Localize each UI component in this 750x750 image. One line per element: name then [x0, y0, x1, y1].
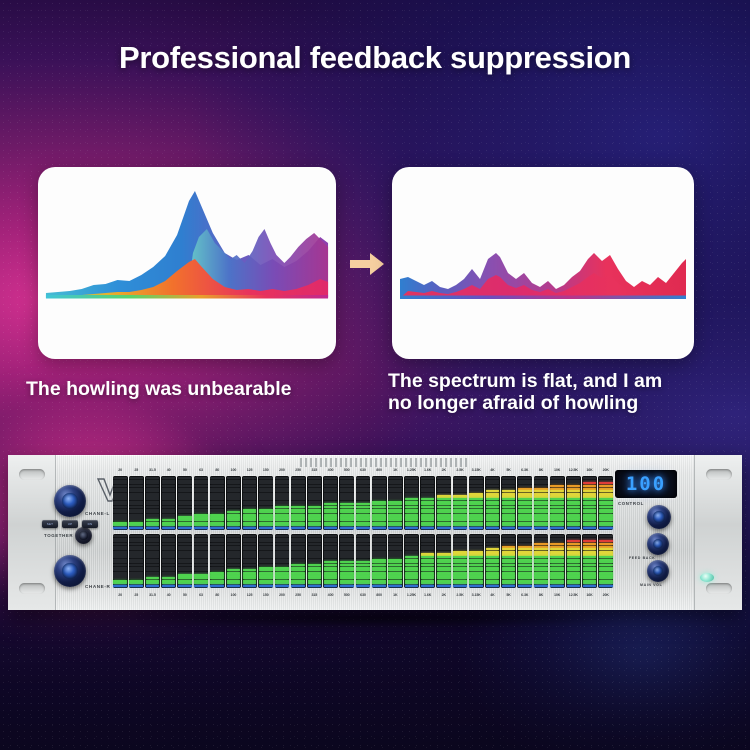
meter-segment: [437, 556, 451, 558]
meter-segment: [534, 498, 548, 500]
meter-segment: [146, 490, 160, 492]
meter-segment: [469, 511, 483, 513]
meter-band[interactable]: [550, 476, 565, 530]
meter-segment: [356, 569, 370, 571]
meter-segment: [469, 548, 483, 550]
meter-segment: [550, 564, 564, 566]
meter-segment: [437, 585, 451, 587]
meter-segment: [162, 506, 176, 508]
frequency-label: 400: [322, 593, 338, 597]
meter-segment: [210, 577, 224, 579]
meter-segment: [567, 506, 581, 508]
meter-band[interactable]: [226, 534, 241, 588]
meter-segment: [291, 490, 305, 492]
meter-segment: [129, 569, 143, 571]
meter-segment: [178, 556, 192, 558]
meter-band[interactable]: [307, 476, 322, 530]
knob-control[interactable]: [647, 505, 671, 529]
meter-segment: [259, 543, 273, 545]
meter-segment: [243, 548, 257, 550]
meter-segment: [113, 490, 127, 492]
meter-band[interactable]: [129, 534, 144, 588]
meter-segment: [194, 535, 208, 537]
meter-segment: [534, 519, 548, 521]
meter-segment: [567, 556, 581, 558]
meter-segment: [178, 477, 192, 479]
frequency-label: 12.5K: [565, 468, 581, 472]
button-set[interactable]: SET: [42, 520, 58, 528]
frequency-labels-top: 202531.540506380100125150200250315400500…: [112, 464, 614, 475]
meter-band[interactable]: [177, 534, 192, 588]
rack-mount-slot: [19, 583, 45, 594]
meter-band[interactable]: [372, 534, 387, 588]
meter-segment: [583, 564, 597, 566]
meter-segment: [324, 585, 338, 587]
meter-segment: [308, 577, 322, 579]
knob-main-volume[interactable]: [647, 560, 669, 582]
meter-band[interactable]: [436, 476, 451, 530]
meter-band[interactable]: [291, 534, 306, 588]
meter-segment: [388, 527, 402, 529]
frequency-label: 250: [290, 468, 306, 472]
meter-segment: [534, 569, 548, 571]
meter-segment: [291, 556, 305, 558]
meter-segment: [453, 535, 467, 537]
meter-segment: [162, 498, 176, 500]
meter-segment: [534, 564, 548, 566]
button-up[interactable]: UP: [62, 520, 78, 528]
meter-segment: [340, 548, 354, 550]
meter-band[interactable]: [485, 534, 500, 588]
meter-segment: [518, 543, 532, 545]
display-value: 100: [626, 473, 666, 495]
meter-segment: [178, 506, 192, 508]
meter-band[interactable]: [404, 534, 419, 588]
meter-segment: [291, 477, 305, 479]
meter-segment: [308, 543, 322, 545]
meter-band[interactable]: [226, 476, 241, 530]
frequency-label: 20: [112, 468, 128, 472]
meter-band[interactable]: [145, 476, 160, 530]
meter-segment: [372, 506, 386, 508]
meter-segment: [275, 511, 289, 513]
meter-segment: [405, 506, 419, 508]
meter-segment: [405, 556, 419, 558]
meter-band[interactable]: [453, 534, 468, 588]
meter-segment: [162, 543, 176, 545]
meter-segment: [405, 564, 419, 566]
meter-segment: [599, 569, 613, 571]
meter-segment: [129, 511, 143, 513]
meter-segment: [469, 556, 483, 558]
meter-segment: [210, 585, 224, 587]
meter-segment: [324, 477, 338, 479]
meter-segment: [583, 498, 597, 500]
meter-segment: [308, 506, 322, 508]
spectrum-card-after: [392, 167, 694, 359]
frequency-label: 1K: [387, 593, 403, 597]
knob-feedback[interactable]: [647, 533, 669, 555]
meter-segment: [146, 569, 160, 571]
meter-band[interactable]: [291, 476, 306, 530]
meter-segment: [534, 556, 548, 558]
meter-segment: [453, 548, 467, 550]
meter-segment: [453, 543, 467, 545]
meter-band[interactable]: [242, 534, 257, 588]
meter-segment: [469, 527, 483, 529]
meter-segment: [518, 527, 532, 529]
meter-segment: [599, 519, 613, 521]
meter-segment: [194, 485, 208, 487]
frequency-label: 200: [274, 468, 290, 472]
meter-segment: [243, 577, 257, 579]
meter-segment: [194, 564, 208, 566]
meter-segment: [372, 485, 386, 487]
meter-segment: [227, 498, 241, 500]
meter-segment: [550, 556, 564, 558]
button-down[interactable]: DN: [82, 520, 98, 528]
knob-channel-right[interactable]: [54, 555, 86, 587]
meter-band[interactable]: [210, 534, 225, 588]
meter-segment: [162, 485, 176, 487]
meter-segment: [469, 535, 483, 537]
knob-channel-left[interactable]: [54, 485, 86, 517]
meter-segment: [421, 477, 435, 479]
knob-together[interactable]: [75, 527, 92, 544]
meter-band[interactable]: [420, 534, 435, 588]
meter-band[interactable]: [534, 534, 549, 588]
meter-segment: [162, 490, 176, 492]
meter-segment: [129, 577, 143, 579]
meter-band[interactable]: [145, 534, 160, 588]
meter-segment: [518, 485, 532, 487]
meter-band[interactable]: [242, 476, 257, 530]
frequency-label: 2.5K: [452, 593, 468, 597]
meter-segment: [275, 556, 289, 558]
meter-band[interactable]: [339, 476, 354, 530]
meter-segment: [275, 535, 289, 537]
meter-segment: [437, 543, 451, 545]
meter-band[interactable]: [598, 476, 613, 530]
meter-segment: [534, 548, 548, 550]
meter-band[interactable]: [582, 476, 597, 530]
meter-segment: [194, 577, 208, 579]
meter-segment: [356, 548, 370, 550]
meter-band[interactable]: [501, 534, 516, 588]
meter-segment: [129, 485, 143, 487]
meter-segment: [502, 477, 516, 479]
meter-segment: [567, 490, 581, 492]
meter-segment: [340, 527, 354, 529]
meter-segment: [502, 535, 516, 537]
meter-segment: [275, 585, 289, 587]
meter-segment: [486, 556, 500, 558]
caption-after-line1: The spectrum is flat, and I am: [388, 370, 662, 392]
meter-segment: [113, 577, 127, 579]
meter-segment: [518, 564, 532, 566]
meter-segment: [502, 569, 516, 571]
meter-segment: [583, 519, 597, 521]
meter-band[interactable]: [323, 534, 338, 588]
meter-band[interactable]: [404, 476, 419, 530]
meter-segment: [405, 485, 419, 487]
frequency-label: 200: [274, 593, 290, 597]
meter-segment: [567, 585, 581, 587]
meter-segment: [550, 548, 564, 550]
meter-band[interactable]: [436, 534, 451, 588]
meter-segment: [356, 506, 370, 508]
meter-segment: [583, 506, 597, 508]
meter-segment: [502, 548, 516, 550]
meter-segment: [356, 564, 370, 566]
meter-band[interactable]: [307, 534, 322, 588]
meter-segment: [178, 569, 192, 571]
meter-segment: [421, 535, 435, 537]
meter-segment: [502, 490, 516, 492]
meter-segment: [550, 511, 564, 513]
meter-row-bottom[interactable]: [112, 534, 614, 588]
meter-band[interactable]: [177, 476, 192, 530]
meter-segment: [259, 506, 273, 508]
meter-segment: [421, 577, 435, 579]
meter-band[interactable]: [372, 476, 387, 530]
meter-segment: [291, 569, 305, 571]
meter-segment: [243, 556, 257, 558]
meter-segment: [340, 477, 354, 479]
meter-segment: [583, 569, 597, 571]
frequency-label: 1K: [387, 468, 403, 472]
label-main-volume: MAIN VOL: [640, 583, 662, 587]
meter-segment: [178, 490, 192, 492]
meter-segment: [113, 498, 127, 500]
meter-segment: [275, 498, 289, 500]
meter-segment: [518, 498, 532, 500]
meter-segment: [308, 511, 322, 513]
meter-segment: [340, 511, 354, 513]
meter-segment: [275, 577, 289, 579]
meter-segment: [210, 511, 224, 513]
meter-segment: [308, 569, 322, 571]
meter-segment: [583, 556, 597, 558]
label-feedback: FEED BACK: [629, 556, 655, 560]
meter-segment: [469, 564, 483, 566]
meter-segment: [227, 511, 241, 513]
meter-band[interactable]: [339, 534, 354, 588]
meter-segment: [210, 535, 224, 537]
meter-segment: [275, 485, 289, 487]
digital-display: 100: [615, 470, 677, 498]
meter-band[interactable]: [113, 476, 128, 530]
meter-segment: [388, 548, 402, 550]
meter-band[interactable]: [323, 476, 338, 530]
meter-segment: [388, 585, 402, 587]
meter-segment: [194, 498, 208, 500]
meter-segment: [599, 556, 613, 558]
meter-segment: [437, 519, 451, 521]
meter-band[interactable]: [129, 476, 144, 530]
meter-segment: [437, 577, 451, 579]
meter-segment: [502, 543, 516, 545]
meter-band[interactable]: [194, 476, 209, 530]
meter-segment: [583, 548, 597, 550]
meter-band[interactable]: [258, 476, 273, 530]
meter-segment: [453, 477, 467, 479]
meter-segment: [308, 498, 322, 500]
meter-segment: [469, 477, 483, 479]
meter-segment: [583, 511, 597, 513]
meter-segment: [243, 498, 257, 500]
meter-segment: [534, 543, 548, 545]
meter-segment: [259, 548, 273, 550]
meter-segment: [356, 577, 370, 579]
meter-segment: [210, 477, 224, 479]
meter-segment: [210, 564, 224, 566]
meter-segment: [388, 543, 402, 545]
page-root: Professional feedback suppression: [0, 0, 750, 750]
meter-band[interactable]: [566, 476, 581, 530]
meter-segment: [227, 485, 241, 487]
meter-segment: [534, 477, 548, 479]
meter-segment: [550, 506, 564, 508]
meter-segment: [340, 485, 354, 487]
frequency-label: 3.15K: [468, 468, 484, 472]
meter-segment: [227, 577, 241, 579]
meter-segment: [129, 585, 143, 587]
meter-band[interactable]: [517, 534, 532, 588]
meter-band[interactable]: [453, 476, 468, 530]
meter-band[interactable]: [356, 476, 371, 530]
meter-segment: [356, 511, 370, 513]
meter-band[interactable]: [356, 534, 371, 588]
meter-segment: [372, 556, 386, 558]
frequency-label: 2K: [436, 593, 452, 597]
frequency-label: 315: [306, 468, 322, 472]
meter-segment: [340, 506, 354, 508]
meter-band[interactable]: [469, 476, 484, 530]
meter-band[interactable]: [517, 476, 532, 530]
meter-segment: [486, 498, 500, 500]
meter-segment: [388, 569, 402, 571]
meter-segment: [259, 564, 273, 566]
meter-segment: [194, 490, 208, 492]
meter-segment: [291, 535, 305, 537]
meter-segment: [340, 535, 354, 537]
meter-band[interactable]: [194, 534, 209, 588]
frequency-label: 40: [161, 468, 177, 472]
frequency-label: 500: [339, 593, 355, 597]
meter-segment: [162, 564, 176, 566]
meter-band[interactable]: [420, 476, 435, 530]
meter-band[interactable]: [501, 476, 516, 530]
meter-band[interactable]: [161, 476, 176, 530]
meter-band[interactable]: [534, 476, 549, 530]
meter-segment: [113, 511, 127, 513]
meter-band[interactable]: [258, 534, 273, 588]
meter-segment: [567, 519, 581, 521]
meter-segment: [405, 519, 419, 521]
meter-segment: [324, 543, 338, 545]
meter-segment: [550, 527, 564, 529]
meter-band[interactable]: [598, 534, 613, 588]
rack-drop-shadow: [40, 608, 710, 634]
meter-band[interactable]: [469, 534, 484, 588]
meter-segment: [275, 506, 289, 508]
meter-segment: [405, 543, 419, 545]
meter-segment: [421, 485, 435, 487]
meter-band[interactable]: [566, 534, 581, 588]
frequency-label: 40: [161, 593, 177, 597]
meter-segment: [308, 585, 322, 587]
meter-segment: [469, 569, 483, 571]
meter-segment: [227, 506, 241, 508]
frequency-label: 1.6K: [420, 593, 436, 597]
frequency-label: 630: [355, 468, 371, 472]
meter-segment: [129, 519, 143, 521]
meter-band[interactable]: [113, 534, 128, 588]
meter-segment: [502, 556, 516, 558]
meter-segment: [405, 527, 419, 529]
meter-band[interactable]: [582, 534, 597, 588]
meter-band[interactable]: [388, 534, 403, 588]
meter-segment: [227, 569, 241, 571]
frequency-label: 2.5K: [452, 468, 468, 472]
meter-band[interactable]: [161, 534, 176, 588]
meter-segment: [291, 511, 305, 513]
meter-segment: [275, 477, 289, 479]
meter-band[interactable]: [275, 476, 290, 530]
meter-segment: [453, 577, 467, 579]
meter-segment: [469, 506, 483, 508]
meter-segment: [599, 548, 613, 550]
meter-band[interactable]: [275, 534, 290, 588]
meter-segment: [453, 498, 467, 500]
meter-segment: [194, 569, 208, 571]
meter-segment: [453, 569, 467, 571]
meter-segment: [146, 564, 160, 566]
meter-row-top[interactable]: [112, 476, 614, 530]
meter-band[interactable]: [210, 476, 225, 530]
meter-segment: [259, 577, 273, 579]
meter-segment: [308, 564, 322, 566]
meter-segment: [567, 485, 581, 487]
meter-band[interactable]: [485, 476, 500, 530]
frequency-label: 5K: [501, 593, 517, 597]
caption-before: The howling was unbearable: [26, 378, 371, 400]
meter-segment: [405, 569, 419, 571]
meter-segment: [372, 477, 386, 479]
frequency-label: 125: [242, 468, 258, 472]
meter-segment: [324, 564, 338, 566]
meter-band[interactable]: [550, 534, 565, 588]
meter-segment: [599, 490, 613, 492]
meter-segment: [113, 556, 127, 558]
meter-segment: [599, 527, 613, 529]
meter-segment: [146, 548, 160, 550]
meter-segment: [146, 511, 160, 513]
meter-band[interactable]: [388, 476, 403, 530]
frequency-label: 100: [225, 468, 241, 472]
frequency-label: 1.25K: [403, 468, 419, 472]
meter-segment: [194, 527, 208, 529]
meter-segment: [599, 498, 613, 500]
meter-segment: [210, 548, 224, 550]
meter-segment: [453, 556, 467, 558]
meter-segment: [113, 543, 127, 545]
meter-segment: [388, 556, 402, 558]
frequency-label: 6.3K: [517, 593, 533, 597]
meter-segment: [534, 535, 548, 537]
meter-segment: [405, 585, 419, 587]
